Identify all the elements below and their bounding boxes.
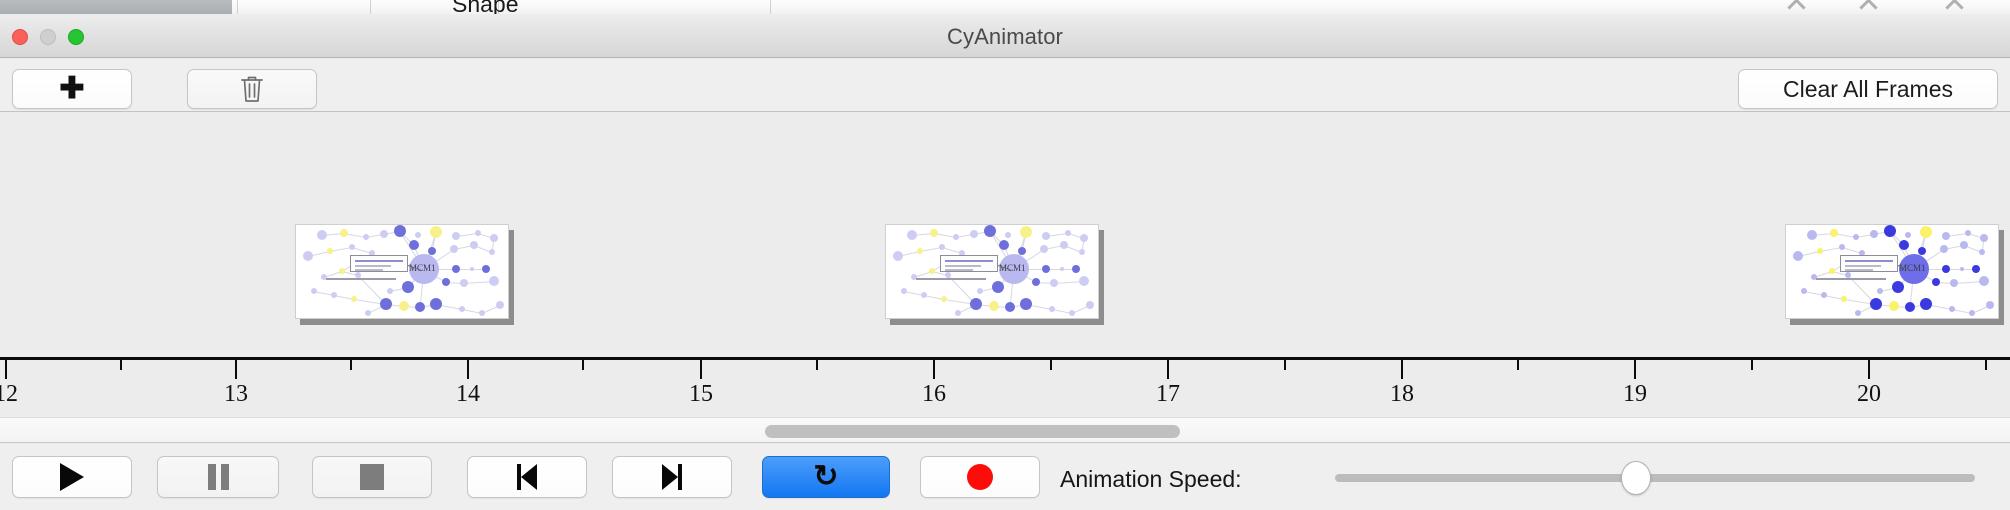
network-node	[929, 268, 935, 274]
network-node	[1960, 241, 1968, 249]
network-node	[482, 265, 490, 273]
network-node	[1020, 298, 1032, 310]
network-node	[901, 288, 907, 294]
play-button[interactable]	[12, 456, 132, 498]
network-node	[1942, 265, 1950, 273]
ruler-tick	[816, 360, 818, 370]
network-node	[489, 249, 495, 255]
network-node	[1817, 248, 1823, 254]
frame-thumbnail[interactable]: MCM1	[1785, 224, 1999, 319]
trash-icon	[239, 74, 265, 104]
pause-icon	[208, 464, 229, 490]
network-node	[977, 288, 983, 294]
network-node	[317, 230, 327, 240]
frame-thumbnail[interactable]: MCM1	[295, 224, 509, 319]
animation-speed-label: Animation Speed:	[1060, 466, 1242, 493]
timeline-frame[interactable]: MCM1	[885, 224, 1099, 319]
background-window-strip: Shape	[0, 0, 2010, 14]
network-node	[1932, 278, 1940, 286]
network-node	[1079, 276, 1089, 286]
record-button[interactable]	[920, 456, 1040, 498]
frame-caption-text	[326, 278, 396, 280]
network-node	[387, 288, 393, 294]
network-node	[917, 248, 923, 254]
node-tooltip-box	[940, 255, 998, 272]
background-divider	[370, 0, 371, 14]
add-frame-button[interactable]: ✚	[12, 69, 132, 109]
skip-to-end-button[interactable]	[612, 456, 732, 498]
ruler-tick-label: 19	[1623, 381, 1647, 407]
ruler-tick-label: 14	[456, 381, 480, 407]
network-node	[1018, 247, 1026, 255]
network-node	[1807, 230, 1817, 240]
network-node	[930, 229, 938, 237]
network-node	[430, 226, 442, 238]
network-node	[415, 232, 421, 238]
background-divider	[770, 0, 771, 14]
title-bar: CyAnimator	[0, 14, 2010, 58]
network-node	[380, 298, 392, 310]
timeline-frame[interactable]: MCM1	[1785, 224, 1999, 319]
network-node	[365, 310, 371, 316]
background-divider	[237, 0, 238, 14]
network-node	[1986, 301, 1994, 309]
timeline-horizontal-scrollbar[interactable]	[0, 417, 2010, 443]
network-node	[327, 248, 333, 254]
timeline-frame[interactable]: MCM1	[295, 224, 509, 319]
pause-button[interactable]	[157, 456, 279, 498]
network-node	[1905, 232, 1911, 238]
ruler-tick-label: 13	[224, 381, 248, 407]
ruler-tick	[582, 360, 584, 370]
ruler-tick	[1751, 360, 1753, 370]
network-node	[1979, 249, 1985, 255]
slider-thumb[interactable]	[1621, 461, 1651, 495]
network-node	[989, 301, 999, 311]
ruler-tick	[1634, 360, 1636, 379]
loop-icon: ↻	[813, 462, 838, 492]
frame-caption-text	[916, 278, 986, 280]
network-node	[1040, 245, 1048, 253]
frame-toolbar: ✚ Clear All Frames	[0, 59, 2010, 112]
ruler-tick	[700, 360, 702, 379]
network-node	[1965, 230, 1971, 236]
network-node	[999, 240, 1009, 250]
network-node	[1960, 267, 1964, 271]
ruler-tick	[5, 360, 7, 379]
network-node	[415, 302, 425, 312]
network-node	[331, 292, 337, 298]
ruler-tick-label: 17	[1156, 381, 1180, 407]
network-node	[1884, 225, 1896, 237]
ruler-tick	[120, 360, 122, 370]
ruler-tick-label: 18	[1390, 381, 1414, 407]
sort-arrow-icon	[1859, 0, 1877, 14]
network-node	[1005, 232, 1011, 238]
network-node	[1829, 268, 1835, 274]
tooltip-text-line	[355, 265, 391, 267]
skip-end-icon	[662, 464, 682, 490]
network-node	[409, 240, 419, 250]
ruler-tick	[1167, 360, 1169, 379]
network-node	[311, 288, 317, 294]
network-node	[339, 268, 345, 274]
ruler-tick	[467, 360, 469, 379]
network-node	[1969, 310, 1975, 316]
ruler-tick	[350, 360, 352, 370]
ruler-tick-label: 12	[0, 381, 18, 407]
ruler-tick-label: 15	[689, 381, 713, 407]
network-node	[1086, 301, 1094, 309]
network-node	[1853, 234, 1859, 240]
network-node	[450, 245, 458, 253]
timeline-panel[interactable]: MCM1MCM1MCM1 121314151617181920 Seconds	[0, 112, 2010, 407]
network-node	[1005, 302, 1015, 312]
network-node	[1870, 230, 1878, 238]
network-node	[442, 278, 450, 286]
network-node	[1079, 249, 1085, 255]
network-node	[399, 301, 409, 311]
skip-to-start-button[interactable]	[467, 456, 587, 498]
network-node	[349, 244, 355, 250]
network-node	[1830, 229, 1838, 237]
network-node	[939, 244, 945, 250]
tooltip-text-line	[1845, 265, 1881, 267]
network-node	[907, 230, 917, 240]
tooltip-text-line	[355, 260, 403, 262]
tooltip-text-line	[945, 265, 981, 267]
network-node	[941, 296, 947, 302]
network-node	[496, 301, 504, 309]
tooltip-text-line	[945, 260, 993, 262]
ruler-tick	[1284, 360, 1286, 370]
network-node	[475, 230, 481, 236]
frame-thumbnail[interactable]: MCM1	[885, 224, 1099, 319]
network-node	[1821, 292, 1827, 298]
animation-speed-slider[interactable]	[1335, 474, 1975, 482]
network-node	[470, 241, 478, 249]
node-tooltip-box	[350, 255, 408, 272]
network-node	[1049, 306, 1055, 312]
loop-toggle-button[interactable]: ↻	[762, 456, 890, 498]
ruler-tick	[1985, 360, 1987, 370]
network-node	[1065, 230, 1071, 236]
ruler-tick	[1401, 360, 1403, 379]
network-node	[490, 234, 498, 242]
network-node	[363, 234, 369, 240]
network-node	[1060, 241, 1068, 249]
stop-button[interactable]	[312, 456, 432, 498]
network-node	[1870, 298, 1882, 310]
ruler-tick	[1050, 360, 1052, 370]
play-icon	[60, 463, 84, 491]
clear-all-frames-label: Clear All Frames	[1783, 76, 1953, 103]
tooltip-text-line	[1845, 269, 1873, 271]
record-icon	[967, 464, 993, 490]
network-node	[1980, 234, 1988, 242]
background-window-label: Shape	[452, 0, 519, 14]
network-node	[1020, 226, 1032, 238]
network-node	[1042, 232, 1050, 240]
network-node	[1920, 298, 1932, 310]
ruler-tick-label: 16	[922, 381, 946, 407]
network-node	[1042, 265, 1050, 273]
stop-icon	[360, 464, 384, 490]
ruler-tick	[235, 360, 237, 379]
network-node	[953, 234, 959, 240]
network-node	[955, 310, 961, 316]
network-node	[1918, 247, 1926, 255]
network-node	[351, 296, 357, 302]
timeline-ruler: 121314151617181920	[0, 357, 2010, 407]
ruler-axis-line	[0, 357, 2010, 360]
network-node	[1060, 267, 1064, 271]
network-node	[1050, 279, 1058, 287]
network-node	[402, 281, 414, 293]
network-node	[984, 225, 996, 237]
network-node	[340, 229, 348, 237]
network-node	[1892, 281, 1904, 293]
tooltip-text-line	[945, 269, 973, 271]
network-node	[1950, 279, 1958, 287]
slider-track[interactable]	[1335, 474, 1975, 482]
network-node	[1032, 278, 1040, 286]
ruler-tick	[1517, 360, 1519, 370]
network-node	[1855, 310, 1861, 316]
ruler-tick	[933, 360, 935, 379]
clear-all-frames-button[interactable]: Clear All Frames	[1738, 69, 1998, 109]
plus-icon: ✚	[59, 74, 84, 104]
network-node	[893, 251, 903, 261]
skip-start-icon	[517, 464, 537, 490]
network-node	[1899, 240, 1909, 250]
network-node	[1942, 232, 1950, 240]
network-node	[1920, 226, 1932, 238]
network-node	[452, 232, 460, 240]
network-node	[489, 276, 499, 286]
network-node	[459, 306, 465, 312]
network-node	[992, 281, 1004, 293]
network-node	[921, 292, 927, 298]
network-node	[1839, 244, 1845, 250]
network-node	[1979, 276, 1989, 286]
window-title: CyAnimator	[0, 24, 2010, 50]
ruler-tick	[1868, 360, 1870, 379]
network-node	[428, 247, 436, 255]
network-node	[470, 267, 474, 271]
network-node	[1905, 302, 1915, 312]
network-node	[1069, 310, 1075, 316]
cyanimator-window: Shape CyAnimator ✚ Clear All Frames MCM1…	[0, 0, 2010, 510]
network-node	[479, 310, 485, 316]
network-node	[1801, 288, 1807, 294]
network-node	[1972, 265, 1980, 273]
network-node	[460, 279, 468, 287]
delete-frame-button[interactable]	[187, 69, 317, 109]
scrollbar-thumb[interactable]	[765, 425, 1180, 438]
sort-arrow-icon	[1945, 0, 1963, 14]
network-node	[1072, 265, 1080, 273]
network-node	[1080, 234, 1088, 242]
frame-caption-text	[1816, 278, 1886, 280]
network-node	[1889, 301, 1899, 311]
network-node	[303, 251, 313, 261]
background-window-dark-panel	[0, 0, 232, 14]
sort-arrow-icon	[1787, 0, 1805, 14]
network-node	[1841, 296, 1847, 302]
network-node	[430, 298, 442, 310]
network-node	[1793, 251, 1803, 261]
network-node	[1949, 306, 1955, 312]
transport-bar: ↻ Animation Speed:	[0, 444, 2010, 510]
tooltip-text-line	[1845, 260, 1893, 262]
ruler-tick-label: 20	[1857, 381, 1881, 407]
network-node	[380, 230, 388, 238]
network-node	[394, 225, 406, 237]
network-node	[970, 230, 978, 238]
network-node	[1940, 245, 1948, 253]
node-tooltip-box	[1840, 255, 1898, 272]
network-node	[452, 265, 460, 273]
tooltip-text-line	[355, 269, 383, 271]
network-node	[1877, 288, 1883, 294]
network-node	[970, 298, 982, 310]
